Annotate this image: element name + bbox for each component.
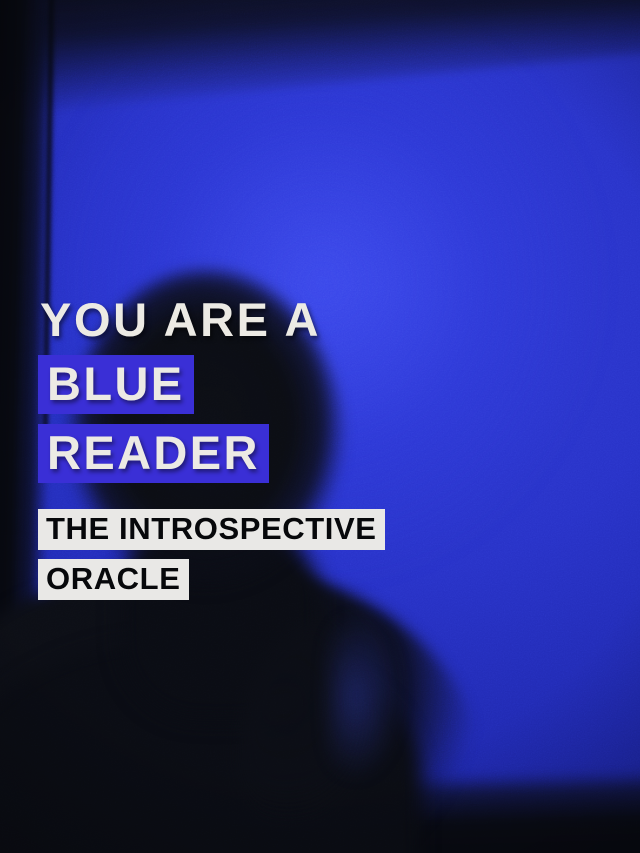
subtitle-line-2-highlight: ORACLE: [38, 559, 189, 600]
poster-canvas: YOU ARE A BLUE READER THE INTROSPECTIVE …: [0, 0, 640, 853]
headline-line-3-row: READER: [38, 424, 598, 483]
subtitle-line-1-row: THE INTROSPECTIVE: [38, 509, 598, 550]
silhouette-rim-light: [330, 600, 460, 840]
poster-text-block: YOU ARE A BLUE READER THE INTROSPECTIVE …: [38, 296, 598, 600]
headline-line-3-highlight: READER: [38, 424, 269, 483]
headline-line-2-highlight: BLUE: [38, 355, 194, 414]
subtitle-line-2-row: ORACLE: [38, 559, 598, 600]
subtitle-line-1-highlight: THE INTROSPECTIVE: [38, 509, 385, 550]
headline-line-2-row: BLUE: [38, 355, 598, 414]
headline-line-1-row: YOU ARE A: [38, 296, 598, 343]
headline-line-1: YOU ARE A: [38, 296, 323, 343]
